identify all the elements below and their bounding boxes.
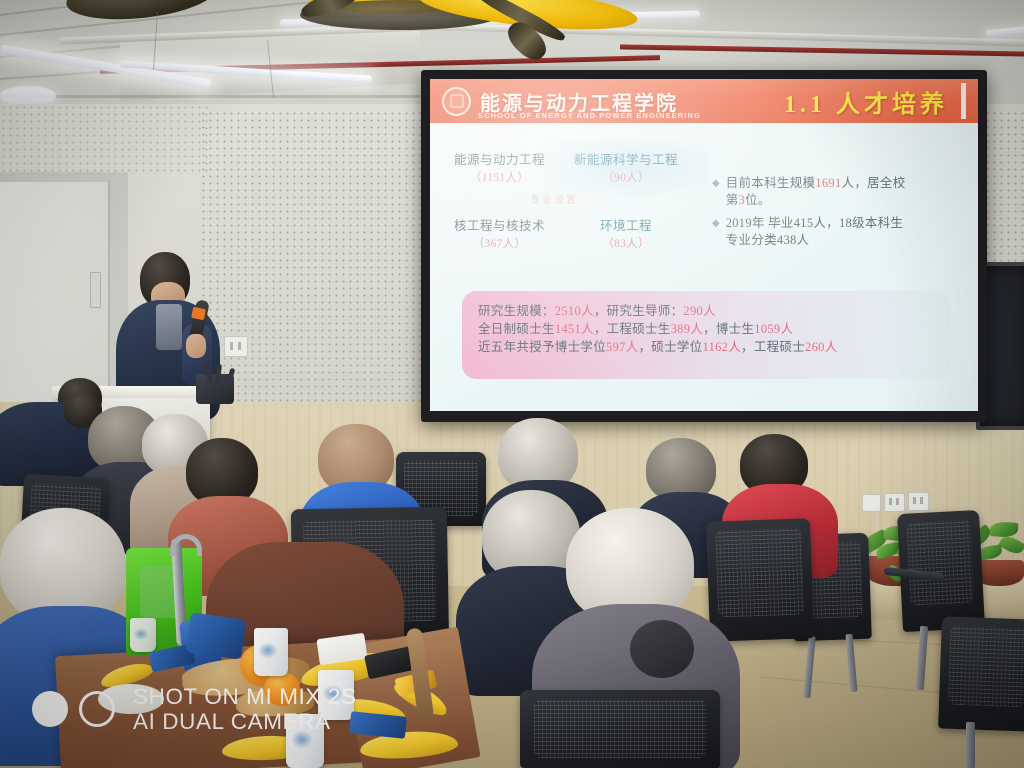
watermark-line-2: AI DUAL CAMERA (133, 709, 357, 734)
diamond-bullet-icon: ◆ (712, 215, 720, 249)
bullet-text: 目前本科生规模1691人，居全校第3位。 (726, 175, 906, 209)
stat-line: 全日制硕士生1451人，工程硕士生389人，博士生1059人 (478, 320, 934, 338)
ceiling-light (0, 86, 56, 106)
school-name-en: SCHOOL OF ENERGY AND POWER ENGINEERING (478, 111, 701, 120)
majors-group: 能源与动力工程 （1151人） 新能源科学与工程 （90人） 专业设置 核工程与… (442, 141, 710, 281)
bullet-item: ◆ 2019年 毕业415人，18级本科生专业分类438人 (712, 215, 970, 249)
slide-header: 能源与动力工程学院 SCHOOL OF ENERGY AND POWER ENG… (430, 79, 978, 123)
power-socket[interactable] (224, 336, 248, 357)
paper-cup[interactable] (130, 618, 156, 652)
microphone-band (191, 307, 206, 320)
photo-scene: 能源与动力工程学院 SCHOOL OF ENERGY AND POWER ENG… (0, 0, 1024, 768)
chair[interactable] (520, 690, 720, 768)
camera-lens-filled-icon (32, 691, 68, 727)
acoustic-panel (0, 104, 210, 176)
snack-bag (185, 612, 246, 659)
paper-cup[interactable] (254, 628, 288, 676)
stat-line: 研究生规模：2510人，研究生导师：290人 (478, 302, 934, 320)
slide-body: 能源与动力工程 （1151人） 新能源科学与工程 （90人） 专业设置 核工程与… (430, 123, 978, 411)
chair[interactable] (706, 518, 814, 642)
major-item: 新能源科学与工程 （90人） (574, 149, 678, 185)
bullet-text: 2019年 毕业415人，18级本科生专业分类438人 (726, 215, 904, 249)
major-item: 能源与动力工程 （1151人） (454, 149, 545, 185)
watermark-line-1: SHOT ON MI MIX 2S (133, 684, 357, 709)
header-accent-bar (961, 83, 966, 119)
bullet-list: ◆ 目前本科生规模1691人，居全校第3位。 ◆ 2019年 毕业415人，18… (712, 175, 970, 255)
major-item: 环境工程 （83人） (600, 215, 652, 251)
projection-screen: 能源与动力工程学院 SCHOOL OF ENERGY AND POWER ENG… (430, 79, 978, 411)
shoulder-bag (630, 620, 694, 678)
camera-lens-outline-icon (79, 691, 115, 727)
camera-watermark: SHOT ON MI MIX 2S AI DUAL CAMERA (32, 684, 357, 734)
power-socket[interactable] (908, 492, 929, 511)
slide-title: 1.1 人才培养 (784, 84, 948, 119)
school-seal-icon (442, 87, 471, 116)
graduate-stats-box: 研究生规模：2510人，研究生导师：290人 全日制硕士生1451人，工程硕士生… (462, 291, 950, 379)
door-handle[interactable] (90, 272, 101, 308)
bullet-item: ◆ 目前本科生规模1691人，居全校第3位。 (712, 175, 970, 209)
majors-center-label: 专业设置 (530, 191, 578, 206)
diamond-bullet-icon: ◆ (712, 175, 720, 209)
stat-line: 近五年共授予博士学位597人，硕士学位1162人，工程硕士260人 (478, 338, 934, 356)
major-item: 核工程与核技术 （367人） (454, 215, 545, 251)
chair[interactable] (938, 616, 1024, 731)
